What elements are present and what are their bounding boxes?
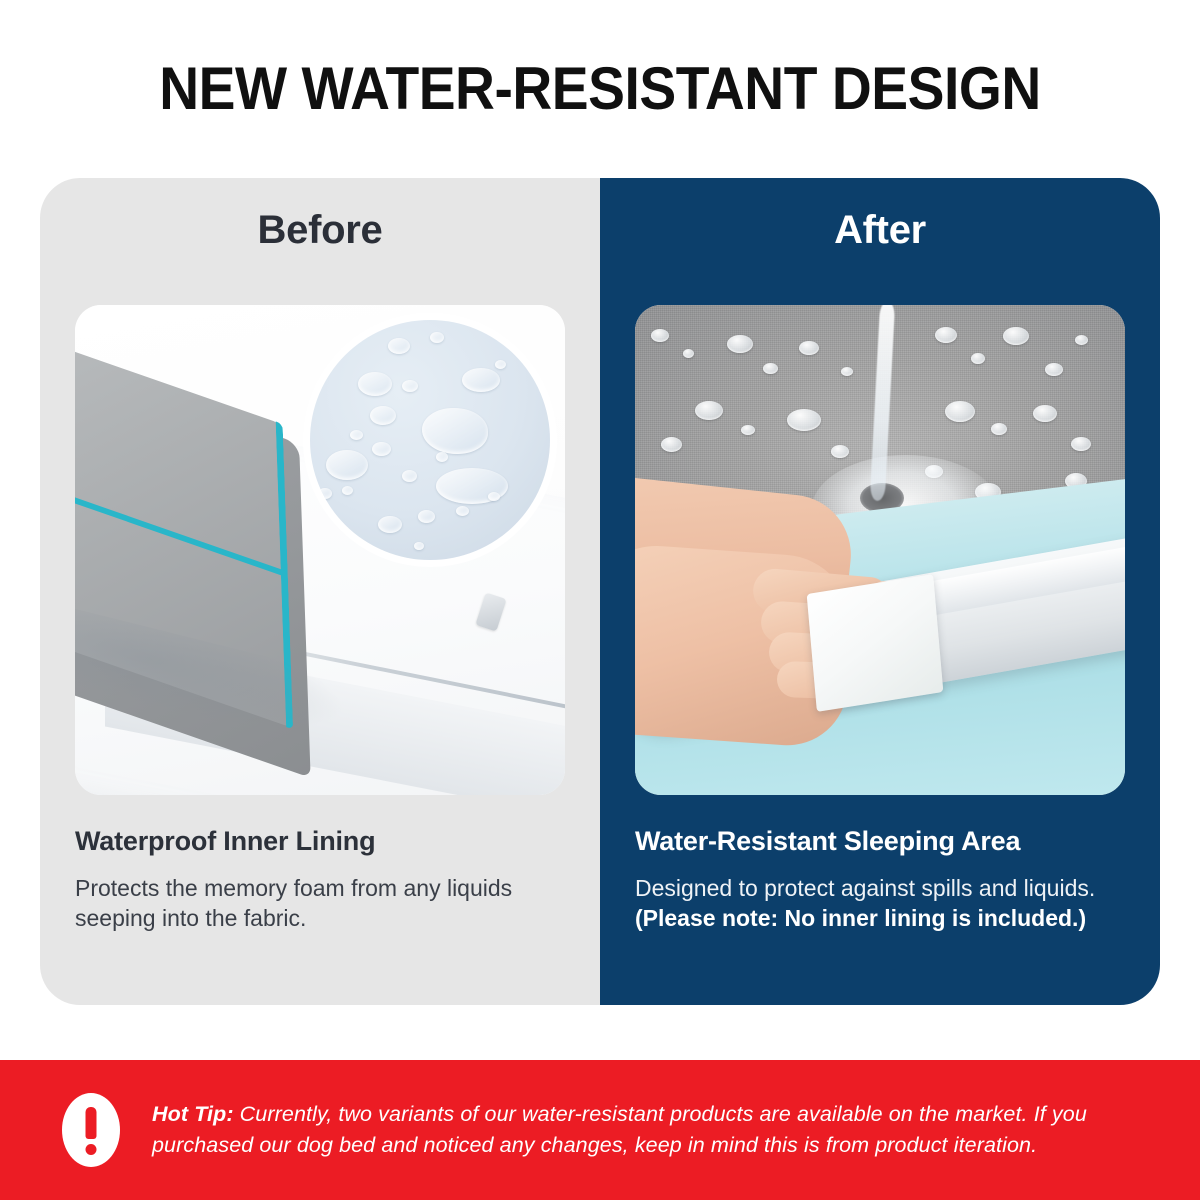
before-caption-title: Waterproof Inner Lining xyxy=(75,826,570,857)
before-caption-body: Protects the memory foam from any liquid… xyxy=(75,873,570,934)
after-product-image xyxy=(635,305,1125,795)
water-droplet-closeup-inset xyxy=(310,320,550,560)
white-sponge xyxy=(807,574,944,712)
hot-tip-label: Hot Tip: xyxy=(152,1102,234,1126)
hot-tip-text: Hot Tip: Currently, two variants of our … xyxy=(152,1099,1120,1160)
after-caption-body-bold: (Please note: No inner lining is include… xyxy=(635,905,1086,931)
after-panel-heading: After xyxy=(600,208,1160,253)
water-resistant-fabric-photo xyxy=(635,305,1125,795)
hot-tip-body: Currently, two variants of our water-res… xyxy=(152,1102,1087,1157)
after-panel: After xyxy=(600,178,1160,1005)
page-title: NEW WATER-RESISTANT DESIGN xyxy=(48,54,1152,123)
after-caption-body-normal: Designed to protect against spills and l… xyxy=(635,875,1095,901)
exclamation-dot xyxy=(86,1144,97,1155)
dog-bed-photo xyxy=(75,305,565,795)
before-panel: Before xyxy=(40,178,600,1005)
before-panel-heading: Before xyxy=(40,208,600,253)
comparison-panels: Before xyxy=(40,178,1160,1005)
after-caption: Water-Resistant Sleeping Area Designed t… xyxy=(635,826,1130,934)
exclamation-circle-icon xyxy=(62,1093,120,1167)
before-product-image xyxy=(75,305,565,795)
hot-tip-banner: Hot Tip: Currently, two variants of our … xyxy=(0,1060,1200,1200)
product-comparison-infographic: NEW WATER-RESISTANT DESIGN Before xyxy=(0,0,1200,1200)
exclamation-stem xyxy=(86,1107,97,1139)
before-caption: Waterproof Inner Lining Protects the mem… xyxy=(75,826,570,934)
after-caption-body: Designed to protect against spills and l… xyxy=(635,873,1130,934)
after-caption-title: Water-Resistant Sleeping Area xyxy=(635,826,1130,857)
